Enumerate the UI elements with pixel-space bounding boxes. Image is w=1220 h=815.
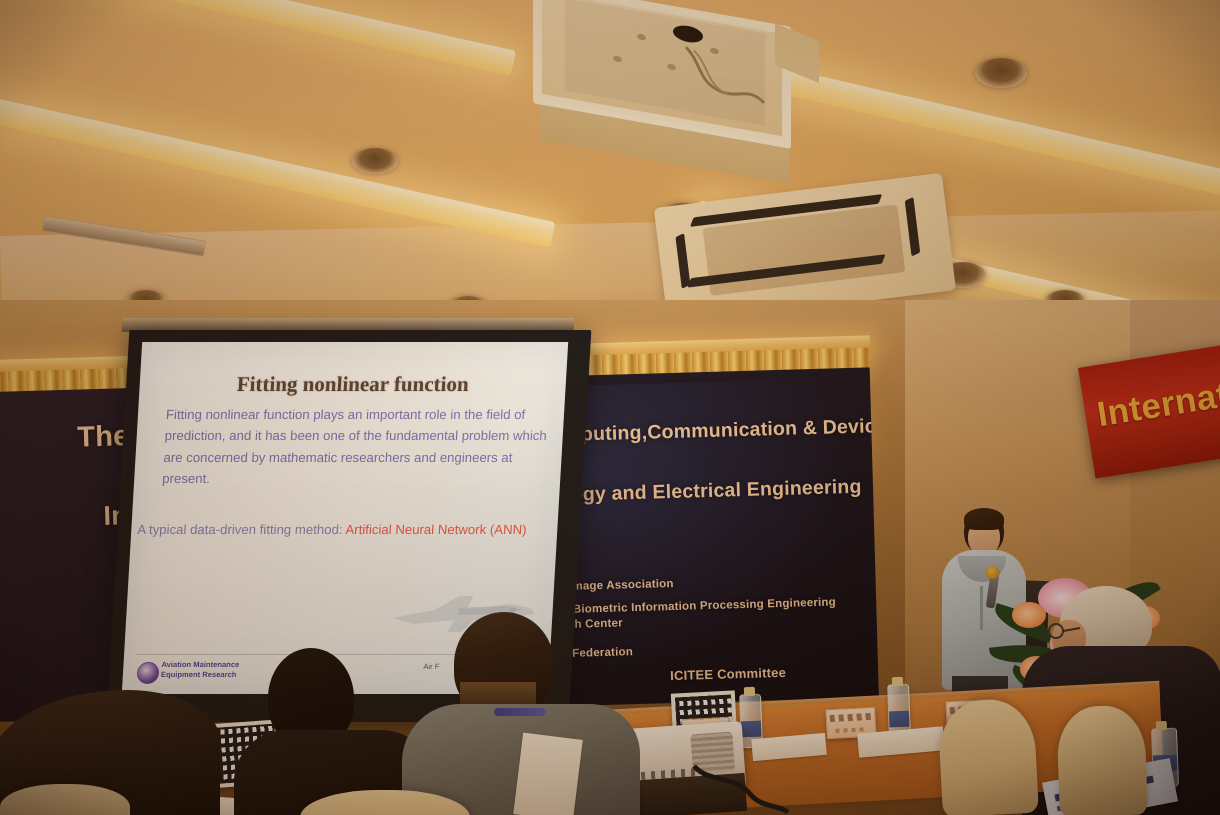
backdrop-committee: ICITEE Committee	[670, 665, 786, 683]
slide-method-lead: A typical data-driven fitting method:	[137, 522, 346, 537]
slide-title: Fitting nonlinear function	[139, 372, 566, 397]
conference-room-photo: The In mputing,Communication & Devices l…	[0, 0, 1220, 815]
recessed-downlight-icon	[352, 148, 398, 174]
rose-icon	[1012, 602, 1046, 628]
eyeglasses-icon	[1046, 622, 1082, 640]
recessed-downlight-icon	[975, 58, 1027, 88]
lanyard-icon	[494, 708, 546, 716]
red-banner-text: Internatio	[1095, 370, 1220, 435]
ceiling-light-strip-icon	[0, 0, 516, 76]
slide-footer-org-line2: Equipment Research	[161, 670, 239, 680]
printed-paper	[513, 733, 583, 815]
presenter-hair-top	[964, 508, 1004, 530]
slide-body-text: Fitting nonlinear function plays an impo…	[162, 404, 549, 490]
red-banner: Internatio	[1078, 345, 1220, 479]
slide-method-line: A typical data-driven fitting method: Ar…	[137, 522, 558, 537]
projector-cable-icon	[690, 760, 790, 815]
hoodie-zip	[980, 586, 983, 630]
slide-footer-org-line1: Aviation Maintenance	[161, 660, 239, 670]
organization-logo-icon	[136, 662, 159, 684]
slide-method-highlight: Artificial Neural Network (ANN)	[345, 522, 527, 537]
chair	[1056, 704, 1148, 815]
ceiling	[0, 0, 1220, 330]
slide-footer-org: Aviation Maintenance Equipment Research	[161, 660, 240, 680]
projector-mount-box	[525, 0, 790, 159]
